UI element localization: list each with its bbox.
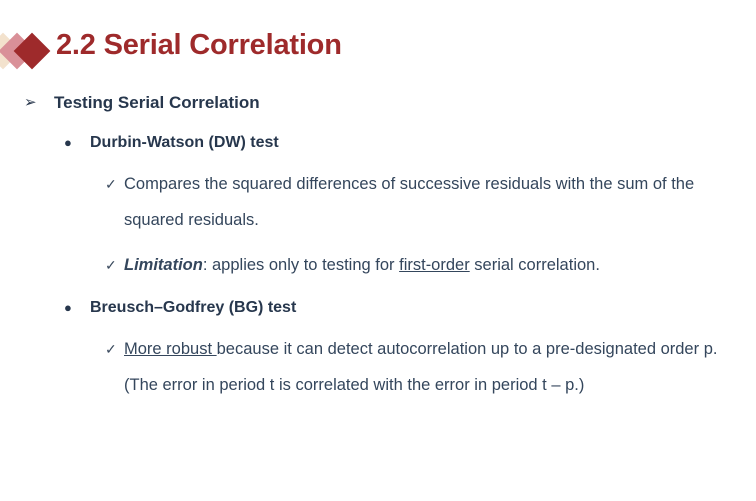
- limitation-text-b: serial correlation.: [470, 256, 600, 274]
- disc-bullet-icon: ●: [64, 129, 72, 157]
- first-order-underline: first-order: [399, 256, 470, 274]
- list-item-label: Testing Serial Correlation: [54, 88, 756, 118]
- check-bullet-icon: ✓: [105, 331, 117, 367]
- slide-title-row: 2.2 Serial Correlation: [0, 22, 756, 78]
- slide-canvas: 2.2 Serial Correlation ➢ Testing Serial …: [0, 0, 756, 501]
- list-item-level2-bg: ● Breusch–Godfrey (BG) test: [0, 294, 756, 322]
- limitation-emphasis: Limitation: [124, 256, 203, 274]
- list-item-level3-limitation: ✓ Limitation: applies only to testing fo…: [0, 247, 756, 283]
- more-robust-underline: More robust: [124, 340, 217, 358]
- slide-body: ➢ Testing Serial Correlation ● Durbin-Wa…: [0, 88, 756, 403]
- list-item-label: Limitation: applies only to testing for …: [124, 247, 722, 283]
- list-item-label: More robust because it can detect autoco…: [124, 331, 722, 403]
- check-bullet-icon: ✓: [105, 166, 117, 202]
- limitation-text-a: : applies only to testing for: [203, 256, 399, 274]
- list-item-level3-compares: ✓ Compares the squared differences of su…: [0, 166, 756, 238]
- arrow-bullet-icon: ➢: [24, 88, 37, 118]
- three-diamonds-icon: [0, 29, 56, 73]
- list-item-label: Breusch–Godfrey (BG) test: [90, 294, 756, 322]
- check-bullet-icon: ✓: [105, 247, 117, 283]
- disc-bullet-icon: ●: [64, 294, 72, 322]
- list-item-level2-dw: ● Durbin-Watson (DW) test: [0, 129, 756, 157]
- list-item-level1: ➢ Testing Serial Correlation: [0, 88, 756, 118]
- page-title: 2.2 Serial Correlation: [56, 22, 342, 68]
- list-item-label: Compares the squared differences of succ…: [124, 166, 722, 238]
- list-item-level3-more-robust: ✓ More robust because it can detect auto…: [0, 331, 756, 403]
- list-item-label: Durbin-Watson (DW) test: [90, 129, 756, 157]
